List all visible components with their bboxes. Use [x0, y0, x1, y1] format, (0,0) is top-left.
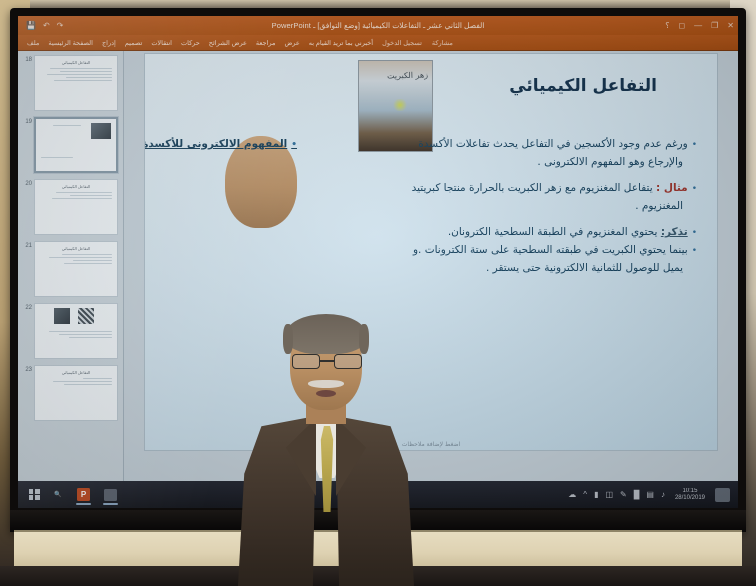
tab-transitions[interactable]: انتقالات	[151, 39, 172, 47]
minimize-icon[interactable]: —	[694, 21, 702, 30]
thumbnail-text-line	[69, 337, 112, 338]
system-tray[interactable]: ☁ ^ ▮ ◫ ✎ █ ▤ ♪ 10:15 28/10/2019	[568, 488, 734, 502]
taskbar-clock[interactable]: 10:15 28/10/2019	[672, 488, 708, 502]
thumbnail-number: 20	[20, 179, 32, 188]
slide-thumbnail[interactable]	[34, 303, 118, 359]
title-bar: 💾 ↶ ↷ الفصل الثاني عشر ـ التفاعلات الكيم…	[18, 16, 738, 35]
bullet-marker: •	[692, 246, 697, 256]
windows-taskbar[interactable]: 🔍 P ☁ ^ ▮ ◫ ✎ █ ▤ ♪ 10:15	[18, 481, 738, 508]
bullet-marker: •	[291, 140, 297, 150]
thumbnail-number: 22	[20, 303, 32, 312]
recall-label: تذكر:	[661, 226, 688, 238]
restore-icon[interactable]: ❐	[711, 21, 718, 30]
clock-time: 10:15	[675, 488, 705, 495]
list-item[interactable]: 22	[18, 303, 123, 365]
thumbnail-text-line	[64, 263, 112, 264]
thumbnail-title: التفاعل الكيميائي	[40, 60, 112, 65]
tab-home[interactable]: الصفحة الرئيسية	[48, 39, 93, 47]
thumbnail-text-line	[56, 192, 112, 193]
display-bezel: 💾 ↶ ↷ الفصل الثاني عشر ـ التفاعلات الكيم…	[10, 8, 746, 532]
list-item[interactable]: 19	[18, 117, 123, 179]
thumbnail-title: التفاعل الكيميائي	[40, 246, 112, 251]
thumbnail-picture	[78, 308, 94, 324]
tab-review[interactable]: مراجعة	[256, 39, 276, 47]
keyboard-icon[interactable]: █	[634, 490, 640, 499]
list-item[interactable]: 21 التفاعل الكيميائي	[18, 241, 123, 303]
thumbnail-text-line	[41, 157, 73, 158]
thumbnail-text-line	[52, 198, 112, 199]
thumbnail-number: 23	[20, 365, 32, 374]
thumbnail-text-line	[53, 381, 112, 382]
taskbar-app-powerpoint[interactable]: P	[70, 483, 97, 506]
bullet-text: يميل للوصول للثمانية الالكترونية حتى يست…	[486, 262, 683, 274]
clock-date: 28/10/2019	[675, 495, 705, 502]
thumbnail-number: 21	[20, 241, 32, 250]
desk-ledge	[14, 530, 742, 570]
ribbon-options-icon[interactable]: ◻	[678, 21, 685, 30]
thumbnail-number: 19	[20, 117, 32, 126]
pen-icon[interactable]: ✎	[620, 490, 627, 499]
thumbnail-text-line	[64, 384, 112, 385]
slide-canvas-area[interactable]: التفاعل الكيميائي زهر الكبريت •المفهوم ا…	[124, 51, 738, 481]
thumbnail-text-line	[73, 260, 112, 261]
action-center-icon[interactable]	[715, 488, 730, 502]
thumbnail-text-line	[70, 195, 112, 196]
work-area: 18 التفاعل الكيميائي 19	[18, 51, 738, 481]
document-title: الفصل الثاني عشر ـ التفاعلات الكيميائية …	[18, 21, 738, 30]
display-icon[interactable]: ◫	[605, 490, 613, 499]
thumbnail-title: التفاعل الكيميائي	[40, 370, 112, 375]
list-item[interactable]: 23 التفاعل الكيميائي	[18, 365, 123, 427]
battery-icon[interactable]: ▮	[594, 490, 598, 499]
tab-file[interactable]: ملف	[27, 39, 39, 47]
bullet-text: والإرجاع وهو المفهوم الالكترونى .	[537, 156, 683, 168]
notes-placeholder[interactable]: اضغط لإضافة ملاحظات	[145, 441, 717, 448]
tab-slideshow[interactable]: عرض الشرائح	[209, 39, 247, 47]
chevron-up-icon[interactable]: ^	[583, 490, 587, 499]
bullet-marker: •	[692, 228, 697, 238]
bullet-text: ورغم عدم وجود الأكسجين في التفاعل يحدث ت…	[418, 138, 687, 150]
slide-thumbnail[interactable]: التفاعل الكيميائي	[34, 241, 118, 297]
ribbon-right-group[interactable]: تسجيل الدخول مشاركة	[382, 39, 453, 47]
network-icon[interactable]: ▤	[646, 490, 654, 499]
slide-thumbnail[interactable]: التفاعل الكيميائي	[34, 55, 118, 111]
sign-in-button[interactable]: تسجيل الدخول	[382, 39, 422, 47]
help-icon[interactable]: ؟	[665, 21, 669, 30]
slide-body-text[interactable]: •المفهوم الالكترونى للأكسدة والارجاع : •…	[173, 136, 697, 278]
bullet-line: •المفهوم الالكترونى للأكسدة والارجاع :	[225, 136, 297, 228]
slide-thumbnail-pane[interactable]: 18 التفاعل الكيميائي 19	[18, 51, 124, 481]
thumbnail-text-line	[83, 378, 112, 379]
bullet-text: يتفاعل المغنزيوم مع زهر الكبريت بالحرارة…	[412, 182, 653, 194]
image-highlight	[392, 99, 408, 111]
slide-thumbnail-selected[interactable]	[34, 117, 118, 173]
thumbnail-picture	[54, 308, 70, 324]
bullet-line: •بينما يحتوي الكبريت في طبقته السطحية عل…	[173, 242, 697, 259]
bullet-text: يحتوي المغنزيوم في الطبقة السطحية الكترو…	[448, 226, 658, 238]
slide-title[interactable]: التفاعل الكيميائي	[509, 76, 657, 96]
thumbnail-number: 18	[20, 55, 32, 64]
taskbar-app-generic[interactable]	[97, 483, 124, 506]
bullet-marker: •	[692, 140, 697, 150]
close-icon[interactable]: ✕	[727, 21, 734, 30]
thumbnail-picture	[91, 123, 111, 139]
thumbnail-text-line	[60, 71, 112, 72]
thumbnail-text-line	[66, 77, 112, 78]
powerpoint-icon: P	[77, 488, 90, 501]
thumbnail-text-line	[62, 254, 112, 255]
share-button[interactable]: مشاركة	[432, 39, 453, 47]
thumbnail-text-line	[47, 74, 112, 75]
ribbon-tab-strip[interactable]: ملف الصفحة الرئيسية إدراج تصميم انتقالات…	[18, 35, 738, 51]
thumbnail-text-line	[59, 334, 112, 335]
onedrive-icon[interactable]: ☁	[568, 490, 576, 499]
tell-me-box[interactable]: أخبرني بما تريد القيام به	[309, 39, 373, 47]
slide-thumbnail[interactable]: التفاعل الكيميائي	[34, 179, 118, 235]
thumbnail-text-line	[49, 257, 112, 258]
desk-front-panel	[0, 566, 756, 586]
bullet-text: بينما يحتوي الكبريت في طبقته السطحية على…	[413, 244, 688, 256]
slide-thumbnail[interactable]: التفاعل الكيميائي	[34, 365, 118, 421]
tab-view[interactable]: عرض	[284, 39, 299, 47]
tab-insert[interactable]: إدراج	[102, 39, 116, 47]
list-item[interactable]: 20 التفاعل الكيميائي	[18, 179, 123, 241]
list-item[interactable]: 18 التفاعل الكيميائي	[18, 55, 123, 117]
tab-design[interactable]: تصميم	[125, 39, 143, 47]
bullet-text: المغنزيوم .	[635, 200, 683, 212]
generic-app-icon	[104, 489, 117, 501]
lecture-room-scene: 💾 ↶ ↷ الفصل الثاني عشر ـ التفاعلات الكيم…	[0, 0, 756, 586]
example-label: مثال :	[656, 182, 688, 194]
thumbnail-text-line	[54, 80, 112, 81]
start-icon[interactable]	[22, 483, 46, 506]
thumbnail-title: التفاعل الكيميائي	[40, 184, 112, 189]
search-icon[interactable]: 🔍	[46, 483, 70, 506]
thumbnail-text-line	[53, 125, 81, 126]
thumbnail-text-line	[50, 68, 112, 69]
window-controls[interactable]: ؟ ◻ — ❐ ✕	[665, 21, 734, 30]
volume-icon[interactable]: ♪	[661, 490, 665, 499]
slide-image-caption: زهر الكبريت	[387, 70, 428, 80]
thumbnail-text-line	[49, 331, 112, 332]
screen-surface: 💾 ↶ ↷ الفصل الثاني عشر ـ التفاعلات الكيم…	[18, 16, 738, 508]
tab-animations[interactable]: حركات	[181, 39, 200, 47]
bullet-text: المفهوم الالكترونى للأكسدة والارجاع :	[144, 138, 287, 150]
current-slide[interactable]: التفاعل الكيميائي زهر الكبريت •المفهوم ا…	[144, 53, 718, 451]
bullet-line: يميل للوصول للثمانية الالكترونية حتى يست…	[173, 260, 697, 276]
powerpoint-window: 💾 ↶ ↷ الفصل الثاني عشر ـ التفاعلات الكيم…	[18, 16, 738, 481]
bullet-marker: •	[692, 184, 697, 194]
